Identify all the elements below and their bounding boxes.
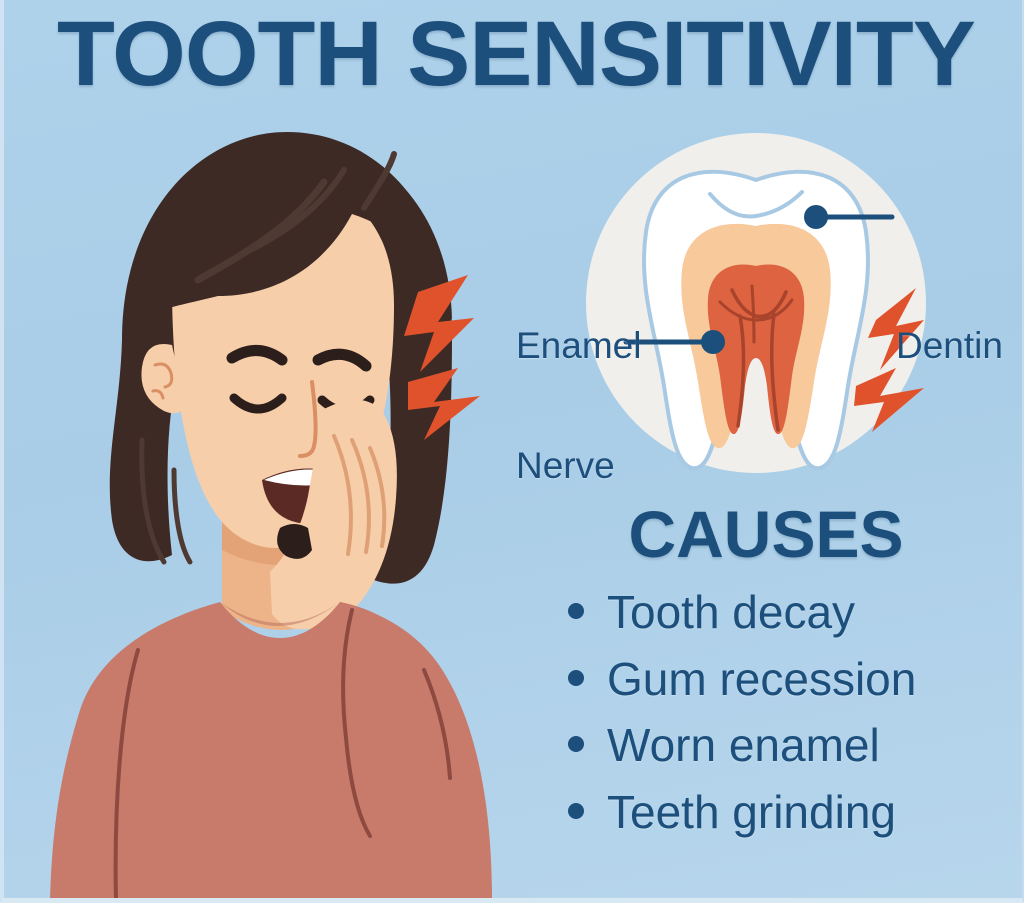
cause-label: Gum recession xyxy=(607,654,916,706)
cause-label: Teeth grinding xyxy=(607,787,896,839)
woman-toothache-illustration xyxy=(22,110,522,900)
list-item: Teeth grinding xyxy=(568,787,1024,839)
infographic-poster: TOOTH SENSITIVITY xyxy=(0,0,1024,903)
tooth-label-dentin: Dentin xyxy=(896,325,1003,367)
causes-section: CAUSES Tooth decay Gum recession Worn en… xyxy=(524,500,1024,853)
list-item: Worn enamel xyxy=(568,720,1024,772)
page-title: TOOTH SENSITIVITY xyxy=(0,8,1024,100)
sweater xyxy=(50,602,492,900)
causes-heading: CAUSES xyxy=(524,500,1024,569)
tooth-diagram: Enamel Dentin Nerve xyxy=(504,120,1024,510)
bullet-icon xyxy=(568,670,584,686)
cause-label: Tooth decay xyxy=(607,587,855,639)
list-item: Tooth decay xyxy=(568,587,1024,639)
bullet-icon xyxy=(568,603,584,619)
causes-list: Tooth decay Gum recession Worn enamel Te… xyxy=(524,587,1024,838)
tooth-label-nerve: Nerve xyxy=(516,445,615,487)
list-item: Gum recession xyxy=(568,654,1024,706)
tooth-label-enamel: Enamel xyxy=(516,325,641,367)
cause-label: Worn enamel xyxy=(607,720,880,772)
bullet-icon xyxy=(568,803,584,819)
bullet-icon xyxy=(568,736,584,752)
